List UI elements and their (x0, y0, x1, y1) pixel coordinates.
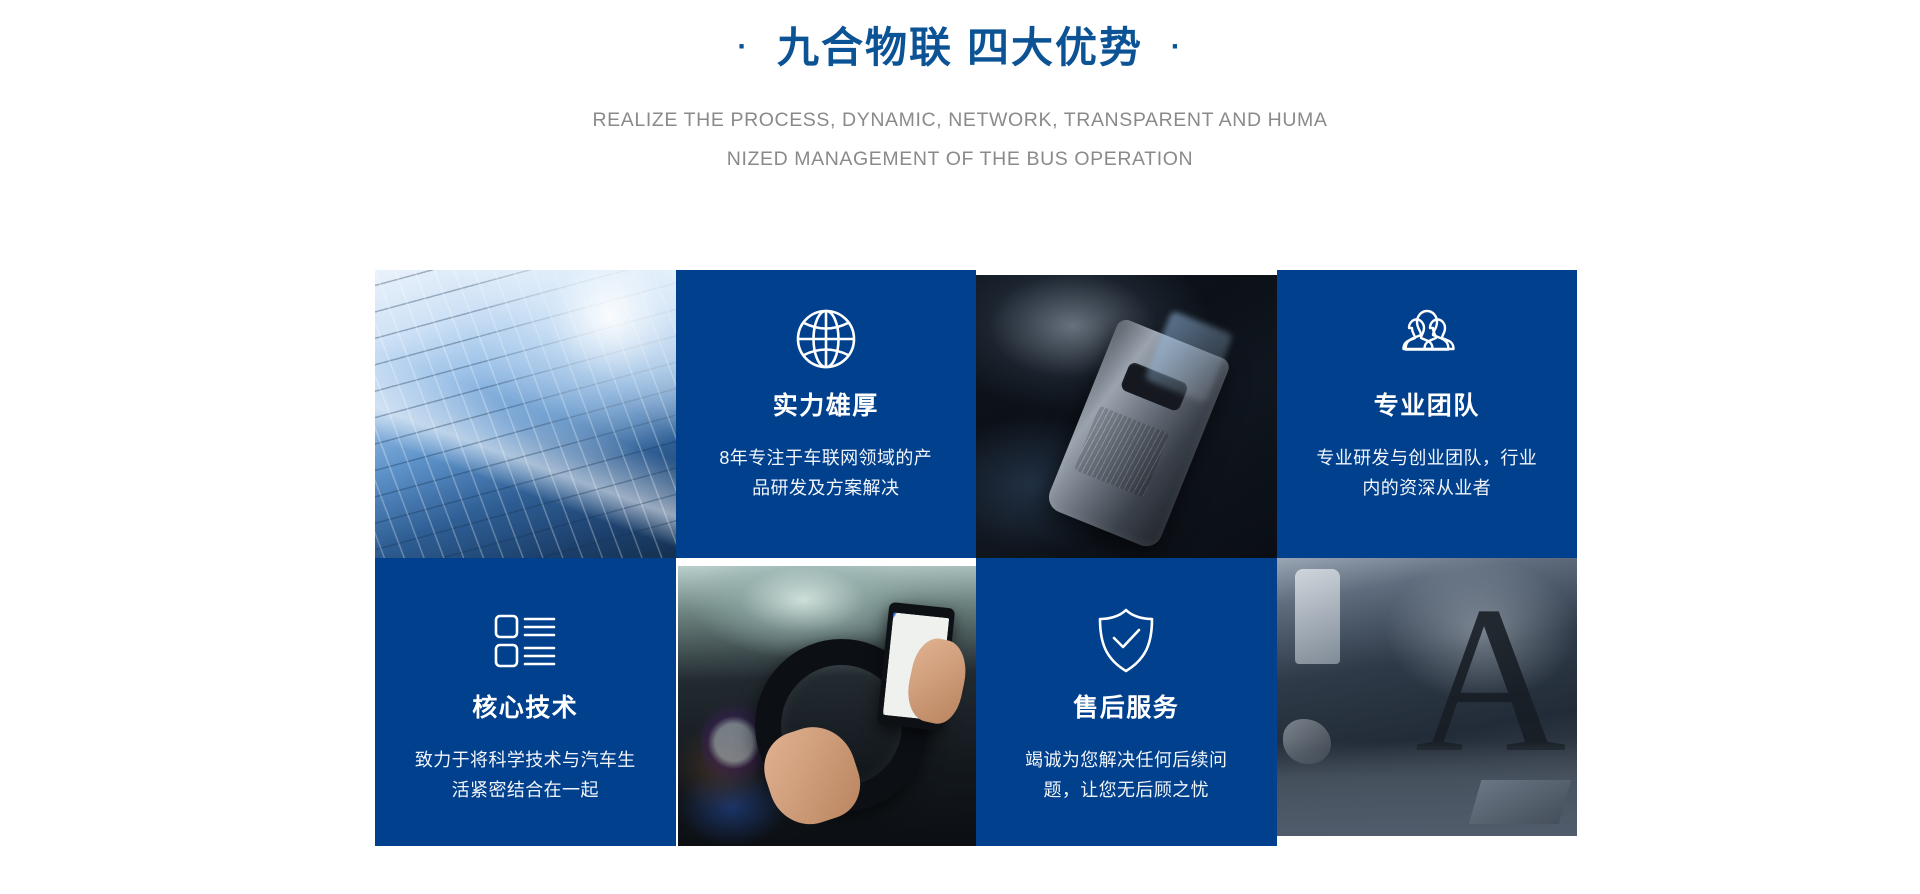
showroom-letter-photo: A (1277, 558, 1578, 846)
subtitle-line-2: NIZED MANAGEMENT OF THE BUS OPERATION (0, 140, 1920, 179)
skyscraper-image (375, 270, 676, 558)
advantages-section: · 九合物联四大优势 · REALIZE THE PROCESS, DYNAMI… (0, 0, 1920, 894)
card-description: 竭诚为您解决任何后续问题，让您无后顾之忧 (1012, 745, 1240, 807)
team-people-icon (1390, 302, 1464, 376)
list-grid-icon (488, 604, 562, 678)
card-description: 致力于将科学技术与汽车生活紧密结合在一起 (411, 745, 639, 807)
card-title: 售后服务 (1073, 692, 1179, 725)
title-dot-right: · (1171, 30, 1183, 63)
section-header: · 九合物联四大优势 · REALIZE THE PROCESS, DYNAMI… (0, 0, 1920, 179)
card-description: 8年专注于车联网领域的产品研发及方案解决 (712, 443, 940, 505)
car-interior-image (976, 275, 1277, 558)
showroom-image: A (1277, 558, 1578, 836)
showroom-vase (1295, 569, 1340, 664)
card-title: 专业团队 (1374, 390, 1480, 423)
subtitle-line-1: REALIZE THE PROCESS, DYNAMIC, NETWORK, T… (0, 101, 1920, 140)
driver-navigation-photo (676, 558, 977, 846)
driving-image (678, 566, 977, 846)
showroom-panel (1468, 780, 1571, 824)
title-part-two: 四大优势 (967, 24, 1143, 71)
section-subtitle: REALIZE THE PROCESS, DYNAMIC, NETWORK, T… (0, 101, 1920, 179)
shield-check-icon (1089, 604, 1163, 678)
globe-icon (789, 302, 863, 376)
card-description: 专业研发与创业团队，行业内的资深从业者 (1313, 443, 1541, 505)
title-part-one: 九合物联 (777, 24, 953, 71)
team-card[interactable]: 专业团队 专业研发与创业团队，行业内的资深从业者 (1277, 270, 1578, 558)
advantages-grid: 实力雄厚 8年专注于车联网领域的产品研发及方案解决 专业团队 (375, 270, 1577, 846)
page-title: · 九合物联四大优势 · (0, 22, 1920, 75)
glass-skyscraper-photo (375, 270, 676, 558)
title-dot-left: · (737, 30, 749, 63)
card-title: 核心技术 (472, 692, 578, 725)
strength-card[interactable]: 实力雄厚 8年专注于车联网领域的产品研发及方案解决 (676, 270, 977, 558)
after-sales-card[interactable]: 售后服务 竭诚为您解决任何后续问题，让您无后顾之忧 (976, 558, 1277, 846)
car-device-photo (976, 270, 1277, 558)
card-title: 实力雄厚 (773, 390, 879, 423)
core-technology-card[interactable]: 核心技术 致力于将科学技术与汽车生活紧密结合在一起 (375, 558, 676, 846)
